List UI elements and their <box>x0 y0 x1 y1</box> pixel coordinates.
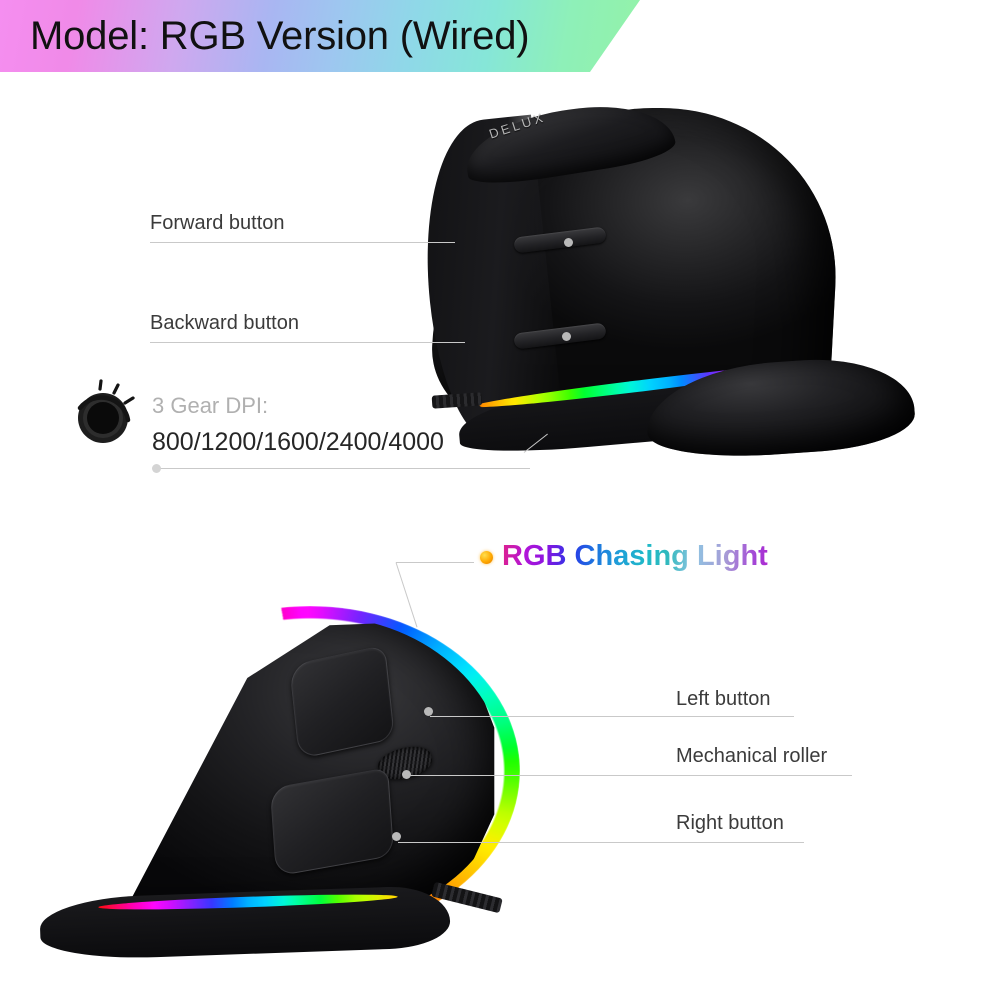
dpi-heading: 3 Gear DPI: <box>152 393 268 419</box>
product-infographic: Model: RGB Version (Wired) DELUX Forward… <box>0 0 1000 1000</box>
leader-dot-left-button <box>424 707 433 716</box>
leader-line-left-button <box>430 716 794 717</box>
leader-dot-right-button <box>392 832 401 841</box>
callout-left-button: Left button <box>676 688 771 711</box>
leader-line-right-button <box>398 842 804 843</box>
rgb-chasing-light-label: RGB Chasing Light <box>502 540 768 573</box>
left-button-shape <box>289 645 395 759</box>
leader-line-dpi <box>160 468 530 469</box>
leader-line-mechanical-roller <box>410 775 852 776</box>
callout-backward-button: Backward button <box>150 312 299 335</box>
leader-line-backward-button <box>150 342 465 343</box>
dpi-dial-icon <box>70 378 142 450</box>
leader-line-rgb-chasing-light <box>396 562 474 563</box>
leader-dot-dpi <box>152 464 161 473</box>
leader-dot-forward-button <box>564 238 573 247</box>
mouse-side-view-image: DELUX <box>418 100 918 460</box>
callout-right-button: Right button <box>676 812 784 835</box>
leader-dot-mechanical-roller <box>402 770 411 779</box>
mouse-front-view-image <box>40 600 560 960</box>
callout-mechanical-roller: Mechanical roller <box>676 745 827 768</box>
callout-forward-button: Forward button <box>150 212 285 235</box>
rgb-highlight-marker-icon <box>480 551 493 564</box>
page-title: Model: RGB Version (Wired) <box>30 8 529 64</box>
leader-dot-backward-button <box>562 332 571 341</box>
dpi-values: 800/1200/1600/2400/4000 <box>152 428 444 457</box>
leader-line-forward-button <box>150 242 455 243</box>
